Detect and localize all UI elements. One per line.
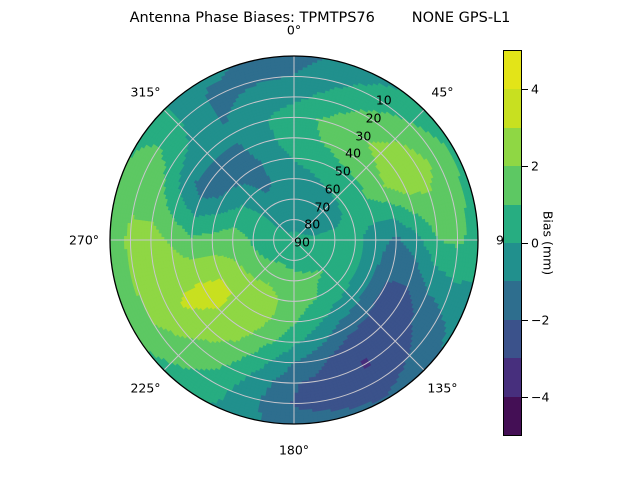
radial-tick-50: 50 — [335, 164, 351, 179]
colorbar-ticklabel-3: 2 — [531, 158, 539, 173]
colorbar-band-4 — [504, 205, 521, 243]
azimuth-tick-315: 315° — [130, 84, 160, 99]
radial-tick-40: 40 — [345, 146, 361, 161]
colorbar-band-7 — [504, 320, 521, 358]
radial-tick-10: 10 — [376, 93, 392, 108]
azimuth-tick-180: 180° — [279, 443, 309, 458]
colorbar-band-9 — [504, 397, 521, 435]
colorbar-tickmark-4 — [522, 89, 528, 90]
colorbar-band-1 — [504, 89, 521, 127]
azimuth-tick-135: 135° — [427, 381, 457, 396]
colorbar-band-8 — [504, 358, 521, 396]
colorbar-band-0 — [504, 51, 521, 89]
colorbar-axis-label: Bias (mm) — [541, 211, 556, 275]
colorbar: −4−2024 — [503, 50, 522, 436]
colorbar-gradient — [503, 50, 522, 436]
radial-tick-20: 20 — [366, 111, 382, 126]
azimuth-tick-225: 225° — [130, 381, 160, 396]
colorbar-ticklabel-1: −2 — [531, 313, 549, 328]
colorbar-band-3 — [504, 166, 521, 204]
colorbar-ticklabel-0: −4 — [531, 390, 549, 405]
colorbar-tickmark-1 — [522, 320, 528, 321]
colorbar-tickmark-3 — [522, 166, 528, 167]
figure-canvas: Antenna Phase Biases: TPMTPS76 NONE GPS-… — [0, 0, 640, 480]
colorbar-ticklabel-2: 0 — [531, 236, 539, 251]
colorbar-band-6 — [504, 281, 521, 319]
azimuth-tick-0: 0° — [287, 23, 301, 38]
colorbar-band-2 — [504, 128, 521, 166]
radial-tick-90: 90 — [294, 235, 310, 250]
colorbar-ticklabel-4: 4 — [531, 81, 539, 96]
radial-tick-70: 70 — [314, 199, 330, 214]
radial-tick-80: 80 — [304, 217, 320, 232]
colorbar-tickmark-2 — [522, 243, 528, 244]
colorbar-band-5 — [504, 243, 521, 281]
azimuth-tick-270: 270° — [69, 233, 99, 248]
colorbar-tickmark-0 — [522, 397, 528, 398]
azimuth-tick-45: 45° — [431, 84, 453, 99]
radial-tick-60: 60 — [325, 181, 341, 196]
radial-tick-30: 30 — [355, 128, 371, 143]
